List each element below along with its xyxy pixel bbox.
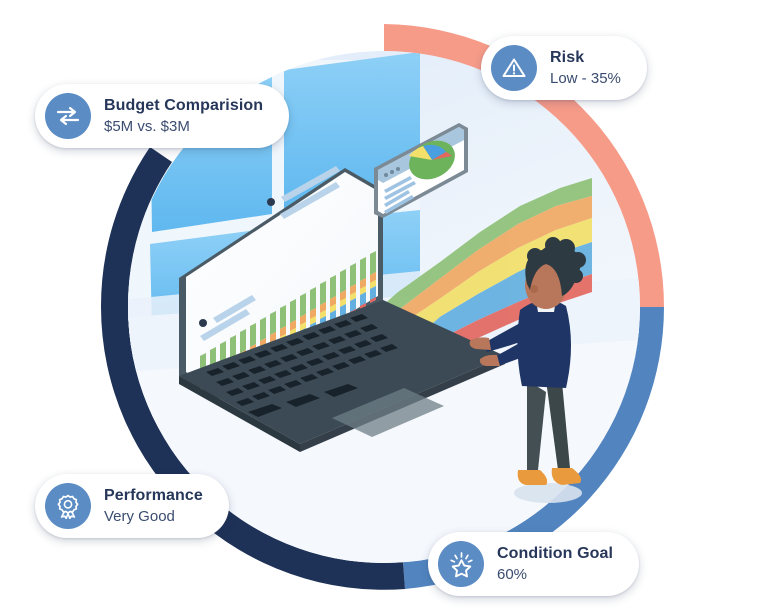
card-risk[interactable]: Risk Low - 35% [481, 36, 647, 100]
illustration-stage: Budget Comparision $5M vs. $3M Risk Low … [0, 0, 768, 614]
card-budget-subtitle: $5M vs. $3M [104, 118, 263, 136]
warning-triangle-glyph [501, 56, 527, 80]
card-budget-text: Budget Comparision $5M vs. $3M [104, 96, 263, 135]
swap-arrows-glyph [55, 105, 81, 127]
card-risk-text: Risk Low - 35% [550, 48, 621, 87]
card-budget-title: Budget Comparision [104, 96, 263, 115]
swap-arrows-icon [45, 93, 91, 139]
card-performance-subtitle: Very Good [104, 508, 203, 526]
sparkle-star-icon [438, 541, 484, 587]
card-budget-comparison[interactable]: Budget Comparision $5M vs. $3M [35, 84, 289, 148]
card-performance-title: Performance [104, 486, 203, 505]
card-risk-subtitle: Low - 35% [550, 70, 621, 88]
award-ribbon-icon [45, 483, 91, 529]
card-risk-title: Risk [550, 48, 621, 67]
card-condition-text: Condition Goal 60% [497, 544, 613, 583]
card-performance[interactable]: Performance Very Good [35, 474, 229, 538]
award-ribbon-glyph [55, 493, 81, 519]
card-performance-text: Performance Very Good [104, 486, 203, 525]
card-condition-subtitle: 60% [497, 566, 613, 584]
sparkle-star-glyph [448, 551, 475, 578]
card-condition-goal[interactable]: Condition Goal 60% [428, 532, 639, 596]
card-condition-title: Condition Goal [497, 544, 613, 563]
warning-triangle-icon [491, 45, 537, 91]
